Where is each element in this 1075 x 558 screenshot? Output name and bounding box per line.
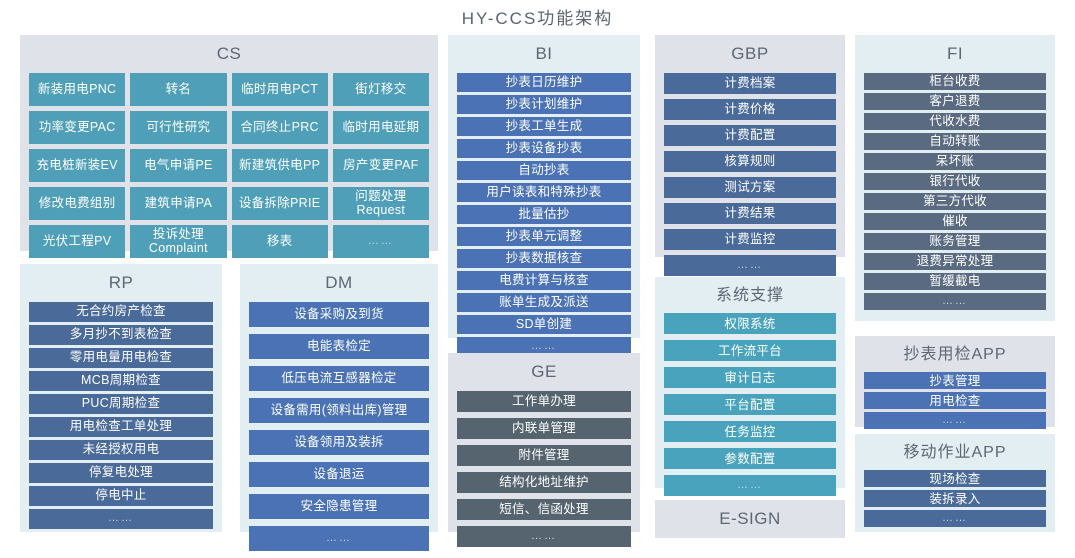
panel-dm-items: 设备采购及到货电能表检定低压电流互感器检定设备需用(领料出库)管理设备领用及装拆… [249,302,429,551]
bi-item[interactable]: 电费计算与核查 [457,271,631,290]
bi-item[interactable]: 抄表设备抄表 [457,139,631,158]
rp-item[interactable]: 无合约房产检查 [29,302,213,322]
panel-bi: BI 抄表日历维护抄表计划维护抄表工单生成抄表设备抄表自动抄表用户读表和特殊抄表… [448,35,640,338]
fi-item[interactable]: 客户退费 [864,93,1046,110]
dm-item[interactable]: 电能表检定 [249,334,429,359]
panel-rp-title: RP [29,269,213,302]
cs-item[interactable]: 可行性研究 [130,111,226,144]
bi-item[interactable]: 抄表工单生成 [457,117,631,136]
system-support-item[interactable]: 任务监控 [664,421,836,442]
meter-app-item[interactable]: 用电检查 [864,392,1046,409]
system-support-item[interactable]: 工作流平台 [664,340,836,361]
page-title: HY-CCS功能架构 [0,4,1075,29]
gbp-item[interactable]: 计费监控 [664,229,836,250]
panel-meter-inspection-app-items: 抄表管理用电检查…… [864,372,1046,429]
ge-item[interactable]: 短信、信函处理 [457,499,631,520]
panel-esign-title: E-SIGN [719,507,781,532]
fi-item[interactable]: 第三方代收 [864,193,1046,210]
rp-item[interactable]: 停电中止 [29,486,213,506]
panel-dm: DM 设备采购及到货电能表检定低压电流互感器检定设备需用(领料出库)管理设备领用… [240,264,438,532]
rp-item[interactable]: MCB周期检查 [29,371,213,391]
bi-item[interactable]: 抄表数据核查 [457,249,631,268]
panel-gbp-items: 计费档案计费价格计费配置核算规则测试方案计费结果计费监控…… [664,73,836,276]
panel-bi-items: 抄表日历维护抄表计划维护抄表工单生成抄表设备抄表自动抄表用户读表和特殊抄表批量估… [457,73,631,356]
panel-gbp: GBP 计费档案计费价格计费配置核算规则测试方案计费结果计费监控…… [655,35,845,257]
architecture-diagram: HY-CCS功能架构 CS 新装用电PNC转名临时用电PCT街灯移交功率变更PA… [0,0,1075,558]
bi-item[interactable]: SD单创建 [457,315,631,334]
panel-mobile-work-app: 移动作业APP 现场检查装拆录入…… [855,434,1055,532]
panel-system-support-title: 系统支撑 [664,282,836,313]
rp-item[interactable]: 未经授权用电 [29,440,213,460]
dm-item[interactable]: 安全隐患管理 [249,494,429,519]
cs-item[interactable]: 街灯移交 [333,73,429,106]
cs-item[interactable]: 建筑申请PA [130,187,226,220]
panel-fi-title: FI [864,40,1046,73]
dm-item[interactable]: 设备需用(领料出库)管理 [249,398,429,423]
cs-item[interactable]: 修改电费组别 [29,187,125,220]
ge-item[interactable]: 工作单办理 [457,391,631,412]
gbp-item[interactable]: 测试方案 [664,177,836,198]
cs-item[interactable]: 光伏工程PV [29,225,125,258]
rp-item[interactable]: …… [29,509,213,529]
rp-item[interactable]: 多月抄不到表检查 [29,325,213,345]
cs-item[interactable]: 电气申请PE [130,149,226,182]
dm-item[interactable]: 设备退运 [249,462,429,487]
dm-item[interactable]: 设备采购及到货 [249,302,429,327]
panel-bi-title: BI [457,40,631,73]
dm-item[interactable]: …… [249,526,429,551]
gbp-item[interactable]: 计费档案 [664,73,836,94]
bi-item[interactable]: 用户读表和特殊抄表 [457,183,631,202]
cs-item[interactable]: 房产变更PAF [333,149,429,182]
bi-item[interactable]: 批量估抄 [457,205,631,224]
system-support-item[interactable]: …… [664,475,836,496]
bi-item[interactable]: 抄表单元调整 [457,227,631,246]
fi-item[interactable]: 自动转账 [864,133,1046,150]
panel-system-support: 系统支撑 权限系统工作流平台审计日志平台配置任务监控参数配置…… [655,277,845,488]
panel-meter-inspection-app-title: 抄表用检APP [864,341,1046,372]
gbp-item[interactable]: 计费结果 [664,203,836,224]
cs-item[interactable]: 新建筑供电PP [232,149,328,182]
gbp-item[interactable]: 核算规则 [664,151,836,172]
ge-item[interactable]: 附件管理 [457,445,631,466]
gbp-item[interactable]: 计费价格 [664,99,836,120]
cs-item[interactable]: 功率变更PAC [29,111,125,144]
dm-item[interactable]: 低压电流互感器检定 [249,366,429,391]
cs-item[interactable]: 临时用电延期 [333,111,429,144]
panel-cs-items: 新装用电PNC转名临时用电PCT街灯移交功率变更PAC可行性研究合同终止PRC临… [29,73,429,258]
panel-dm-title: DM [249,269,429,302]
bi-item[interactable]: 抄表日历维护 [457,73,631,92]
fi-item[interactable]: …… [864,293,1046,310]
fi-item[interactable]: 呆坏账 [864,153,1046,170]
system-support-item[interactable]: 平台配置 [664,394,836,415]
fi-item[interactable]: 催收 [864,213,1046,230]
fi-item[interactable]: 柜台收费 [864,73,1046,90]
fi-item[interactable]: 退费异常处理 [864,253,1046,270]
panel-cs-title: CS [29,40,429,73]
rp-item[interactable]: 停复电处理 [29,463,213,483]
panel-gbp-title: GBP [664,40,836,73]
panel-cs: CS 新装用电PNC转名临时用电PCT街灯移交功率变更PAC可行性研究合同终止P… [20,35,438,251]
rp-item[interactable]: 用电检查工单处理 [29,417,213,437]
panel-esign: E-SIGN [655,500,845,538]
fi-item[interactable]: 暂缓截电 [864,273,1046,290]
fi-item[interactable]: 银行代收 [864,173,1046,190]
bi-item[interactable]: 自动抄表 [457,161,631,180]
ge-item[interactable]: 内联单管理 [457,418,631,439]
bi-item[interactable]: 抄表计划维护 [457,95,631,114]
panel-meter-inspection-app: 抄表用检APP 抄表管理用电检查…… [855,336,1055,427]
panel-mobile-work-app-items: 现场检查装拆录入…… [864,470,1046,527]
system-support-item[interactable]: 权限系统 [664,313,836,334]
panel-rp-items: 无合约房产检查多月抄不到表检查零用电量用电检查MCB周期检查PUC周期检查用电检… [29,302,213,529]
gbp-item[interactable]: 计费配置 [664,125,836,146]
mobile-app-item[interactable]: …… [864,510,1046,527]
fi-item[interactable]: 账务管理 [864,233,1046,250]
bi-item[interactable]: 账单生成及派送 [457,293,631,312]
panel-system-support-items: 权限系统工作流平台审计日志平台配置任务监控参数配置…… [664,313,836,496]
panel-fi: FI 柜台收费客户退费代收水费自动转账呆坏账银行代收第三方代收催收账务管理退费异… [855,35,1055,321]
panel-ge: GE 工作单办理内联单管理附件管理结构化地址维护短信、信函处理…… [448,353,640,532]
cs-item[interactable]: 设备拆除PRIE [232,187,328,220]
meter-app-item[interactable]: 抄表管理 [864,372,1046,389]
cs-item[interactable]: 临时用电PCT [232,73,328,106]
cs-item[interactable]: 投诉处理 Complaint [130,225,226,258]
cs-item[interactable]: 新装用电PNC [29,73,125,106]
panel-fi-items: 柜台收费客户退费代收水费自动转账呆坏账银行代收第三方代收催收账务管理退费异常处理… [864,73,1046,310]
cs-item[interactable]: 移表 [232,225,328,258]
system-support-item[interactable]: 审计日志 [664,367,836,388]
rp-item[interactable]: 零用电量用电检查 [29,348,213,368]
cs-item[interactable]: 合同终止PRC [232,111,328,144]
system-support-item[interactable]: 参数配置 [664,448,836,469]
cs-item[interactable]: …… [333,225,429,258]
rp-item[interactable]: PUC周期检查 [29,394,213,414]
ge-item[interactable]: 结构化地址维护 [457,472,631,493]
mobile-app-item[interactable]: 现场检查 [864,470,1046,487]
meter-app-item[interactable]: …… [864,412,1046,429]
panel-ge-title: GE [457,358,631,391]
cs-item[interactable]: 问题处理 Request [333,187,429,220]
cs-item[interactable]: 充电桩新装EV [29,149,125,182]
mobile-app-item[interactable]: 装拆录入 [864,490,1046,507]
dm-item[interactable]: 设备领用及装拆 [249,430,429,455]
gbp-item[interactable]: …… [664,255,836,276]
cs-item[interactable]: 转名 [130,73,226,106]
fi-item[interactable]: 代收水费 [864,113,1046,130]
panel-ge-items: 工作单办理内联单管理附件管理结构化地址维护短信、信函处理…… [457,391,631,547]
panel-rp: RP 无合约房产检查多月抄不到表检查零用电量用电检查MCB周期检查PUC周期检查… [20,264,222,532]
ge-item[interactable]: …… [457,526,631,547]
panel-mobile-work-app-title: 移动作业APP [864,439,1046,470]
